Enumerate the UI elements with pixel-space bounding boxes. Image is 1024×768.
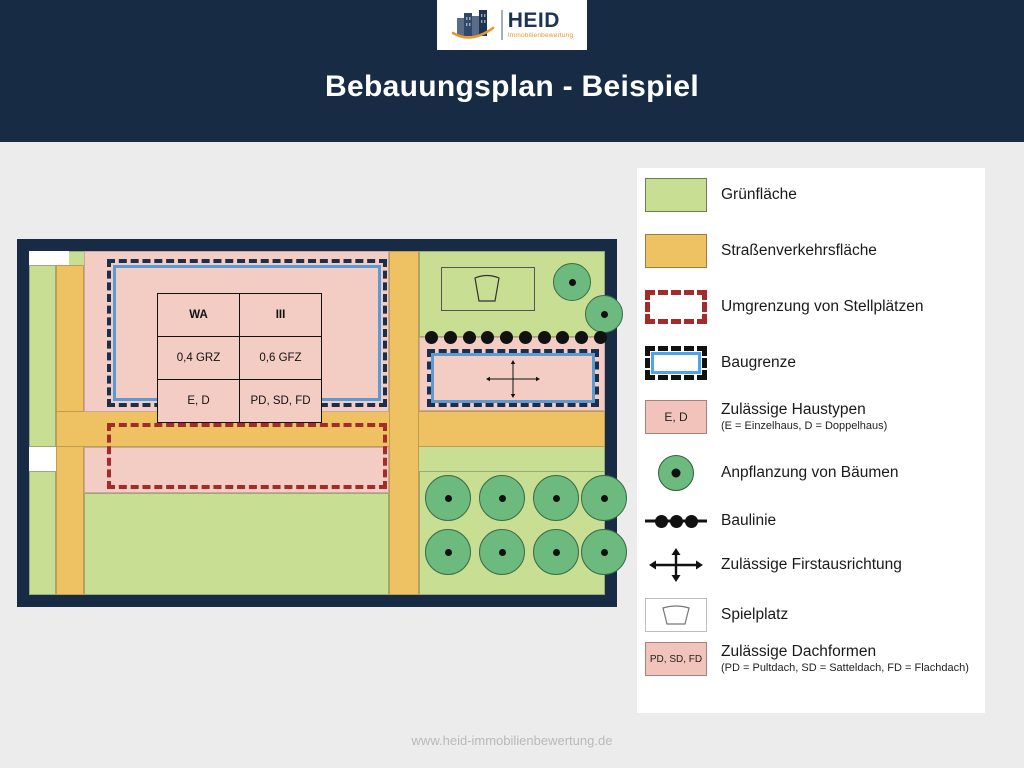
building-line-swatch [645, 346, 707, 380]
tree-icon [581, 475, 627, 521]
legend-label: Zulässige Firstausrichtung [721, 556, 902, 574]
roof-form-swatch: PD, SD, FD [645, 642, 707, 676]
site-plan-map: WA III 0,4 GRZ 0,6 GFZ E, D PD, SD, FD [17, 239, 617, 607]
tree-icon [425, 529, 471, 575]
page-header: HEID Immobilienbewertung Bebauungsplan -… [0, 0, 1024, 142]
legend-label: Umgrenzung von Stellplätzen [721, 298, 923, 316]
legend-label: Zulässige Dachformen [721, 643, 969, 661]
house-type-swatch: E, D [645, 400, 707, 434]
legend-item-dachformen: PD, SD, FD Zulässige Dachformen (PD = Pu… [645, 642, 969, 676]
cell-roofforms: PD, SD, FD [240, 380, 322, 423]
map-canvas: WA III 0,4 GRZ 0,6 GFZ E, D PD, SD, FD [29, 251, 605, 595]
logo-tagline: Immobilienbewertung [508, 33, 574, 40]
legend-label: Baugrenze [721, 354, 796, 372]
green-area-swatch [645, 178, 707, 212]
green-area-bottom [84, 493, 389, 595]
legend-label: Grünfläche [721, 186, 797, 204]
tree-icon [425, 475, 471, 521]
table-row: 0,4 GRZ 0,6 GFZ [158, 337, 322, 380]
table-row: WA III [158, 294, 322, 337]
cell-stories: III [240, 294, 322, 337]
tree-icon [585, 295, 623, 333]
green-strip-left-bottom [29, 471, 56, 595]
legend-item-baeume: Anpflanzung von Bäumen [645, 456, 899, 490]
left-gap-bottom [29, 447, 56, 471]
tree-icon [533, 529, 579, 575]
page-title: Bebauungsplan - Beispiel [0, 70, 1024, 104]
tree-icon [479, 529, 525, 575]
playground-icon [645, 598, 707, 632]
left-gap-top [29, 251, 69, 265]
legend-item-baulinie: Baulinie [645, 504, 776, 538]
road-area-swatch [645, 234, 707, 268]
legend-label: Zulässige Haustypen [721, 401, 887, 419]
legend-label: Spielplatz [721, 606, 788, 624]
cell-wa: WA [158, 294, 240, 337]
legend-label: Anpflanzung von Bäumen [721, 464, 899, 482]
cell-grz: 0,4 GRZ [158, 337, 240, 380]
legend-item-stellplaetze: Umgrenzung von Stellplätzen [645, 290, 923, 324]
legend-item-baugrenze: Baugrenze [645, 346, 796, 380]
baulinie [425, 331, 607, 344]
legend-item-spielplatz: Spielplatz [645, 598, 788, 632]
footer-url: www.heid-immobilienbewertung.de [0, 733, 1024, 748]
sandbox-icon [470, 273, 504, 310]
logo-wordmark: HEID [508, 10, 574, 31]
legend-item-gruenflaeche: Grünfläche [645, 178, 797, 212]
tree-icon [553, 263, 591, 301]
legend-item-firstausrichtung: Zulässige Firstausrichtung [645, 546, 902, 584]
legend-label: Baulinie [721, 512, 776, 530]
cell-housetypes: E, D [158, 380, 240, 423]
parking-boundary-swatch [645, 290, 707, 324]
tree-icon [479, 475, 525, 521]
legend-item-strassenverkehrsflaeche: Straßenverkehrsfläche [645, 234, 877, 268]
baulinie-icon [645, 504, 707, 538]
table-row: E, D PD, SD, FD [158, 380, 322, 423]
tree-icon [581, 529, 627, 575]
tree-icon [533, 475, 579, 521]
building-logo-icon [451, 8, 495, 42]
tree-icon [645, 456, 707, 490]
green-strip-left-top [29, 265, 56, 447]
stellplatz-boundary [107, 423, 387, 489]
ridge-direction-icon [645, 546, 707, 584]
legend-item-haustypen: E, D Zulässige Haustypen (E = Einzelhaus… [645, 400, 887, 434]
legend-sublabel: (PD = Pultdach, SD = Satteldach, FD = Fl… [721, 662, 969, 676]
legend-label: Straßenverkehrsfläche [721, 242, 877, 260]
plan-parameter-table: WA III 0,4 GRZ 0,6 GFZ E, D PD, SD, FD [157, 293, 322, 423]
legend-panel: Grünfläche Straßenverkehrsfläche Umgrenz… [637, 168, 985, 713]
legend-sublabel: (E = Einzelhaus, D = Doppelhaus) [721, 420, 887, 434]
brand-logo: HEID Immobilienbewertung [437, 0, 587, 50]
cell-gfz: 0,6 GFZ [240, 337, 322, 380]
ridge-direction-icon [481, 359, 545, 404]
road-vertical-right [389, 251, 419, 595]
